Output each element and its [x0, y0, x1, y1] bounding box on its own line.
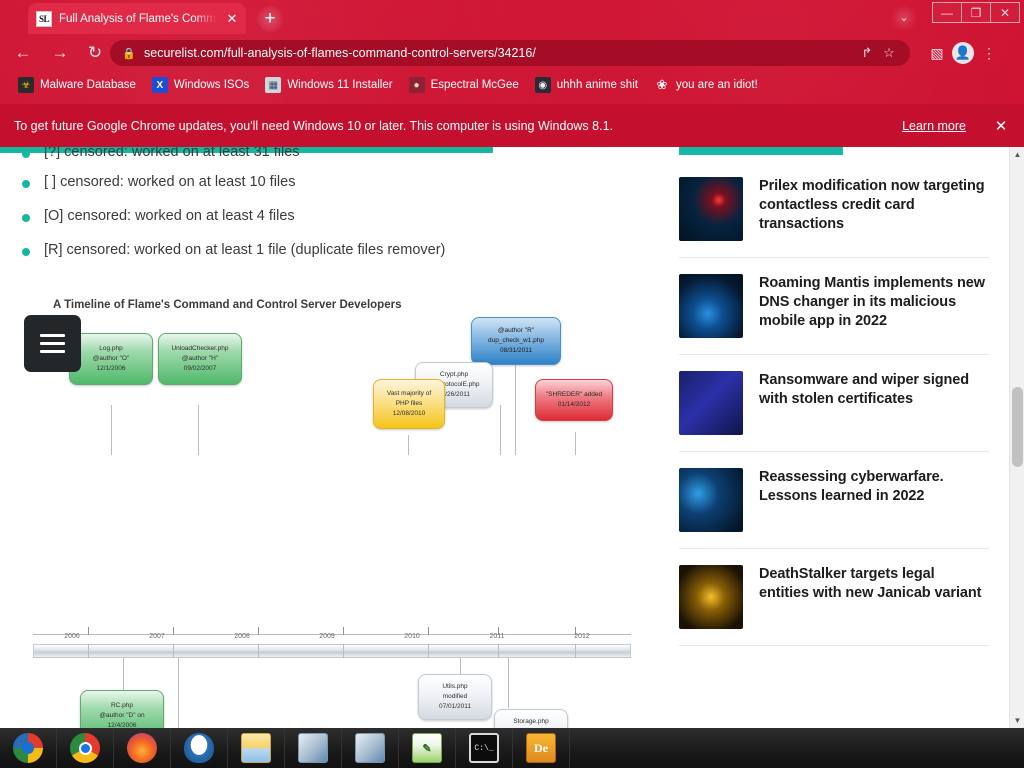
bookmark-label: you are an idiot! [676, 79, 758, 91]
node-line: modified [443, 692, 468, 702]
node-line: @author "R" [498, 326, 534, 336]
list-item: [O] censored: worked on at least 4 files [22, 207, 295, 226]
delphi-icon: De [526, 733, 556, 763]
article-title: Roaming Mantis implements new DNS change… [759, 274, 985, 331]
node-line: 07/01/2011 [439, 702, 471, 712]
bookmark-windows-isos[interactable]: X Windows ISOs [152, 77, 249, 93]
node-line: PHP files [396, 399, 423, 409]
scroll-up-arrow-icon[interactable]: ▲ [1010, 147, 1024, 162]
node-line: @author "D" on [99, 711, 144, 721]
bullet-text: [R] censored: worked on at least 1 file … [44, 241, 445, 260]
menu-hamburger-button[interactable] [24, 315, 81, 372]
axis-year-label: 2012 [574, 633, 590, 640]
bookmark-windows-11-installer[interactable]: ▦ Windows 11 Installer [265, 77, 392, 93]
node-line: 08/31/2011 [500, 346, 532, 356]
minimize-button[interactable]: — [932, 2, 962, 23]
timeline-figure: @author "R" dup_check_w1.php 08/31/2011 … [30, 297, 650, 728]
axis-segment [258, 644, 259, 658]
bullet-dot [22, 214, 30, 222]
node-line: @author "H" [182, 354, 218, 364]
window-icon: ▦ [265, 77, 281, 93]
connector-line [198, 405, 199, 455]
tab-search-chevron-down-icon[interactable]: ⌄ [890, 5, 918, 31]
article-thumbnail [679, 274, 743, 338]
toolbar-right-actions: ▧ 👤 ⋮ [924, 40, 1002, 66]
list-item: [R] censored: worked on at least 1 file … [22, 241, 445, 260]
forward-button[interactable]: → [47, 40, 73, 66]
node-dupcheck: @author "R" dup_check_w1.php 08/31/2011 [471, 317, 561, 365]
axis-tick [173, 627, 174, 635]
securelist-favicon-icon: SL [36, 11, 52, 27]
hamburger-bar-icon [40, 342, 65, 345]
axis-year-label: 2006 [64, 633, 80, 640]
article-title: Reassessing cyberwarfare. Lessons learne… [759, 468, 985, 506]
butterfly-icon: ❀ [654, 77, 670, 93]
connector-line [123, 658, 124, 690]
node-line: @author "O" [93, 354, 130, 364]
node-line: Log.php [99, 344, 123, 354]
bookmarks-bar: ☣ Malware Database X Windows ISOs ▦ Wind… [0, 72, 1024, 98]
window-controls: — ❐ ✕ [933, 2, 1020, 24]
learn-more-link[interactable]: Learn more [902, 119, 966, 133]
firefox-icon [127, 733, 157, 763]
opera-icon [184, 733, 214, 763]
axis-tick [343, 627, 344, 635]
article-title: Ransomware and wiper signed with stolen … [759, 371, 985, 409]
taskbar-command-prompt[interactable]: C:\_ [456, 728, 513, 768]
taskbar-opera[interactable] [171, 728, 228, 768]
list-item: [ ] censored: worked on at least 10 file… [22, 173, 295, 192]
page-viewport: [?] censored: worked on at least 31 file… [0, 147, 1024, 728]
axis-segment [343, 644, 344, 658]
node-line: 12/08/2010 [393, 409, 426, 419]
node-line: Crypt.php [440, 370, 468, 380]
bullet-text: [ ] censored: worked on at least 10 file… [44, 173, 295, 192]
bookmark-label: Windows 11 Installer [287, 79, 392, 91]
hamburger-bar-icon [40, 334, 65, 337]
node-line: "SHREDER" added [546, 390, 602, 400]
notepad-plus-plus-icon: ✎ [412, 733, 442, 763]
tab-close-icon[interactable]: ✕ [224, 11, 240, 27]
page-scrollbar[interactable]: ▲ ▼ [1009, 147, 1024, 728]
command-prompt-icon: C:\_ [469, 733, 499, 763]
axis-tick [88, 627, 89, 635]
node-utils-modified: Utils.php modified 07/01/2011 [418, 674, 492, 720]
bookmark-label: Windows ISOs [174, 79, 249, 91]
new-tab-button[interactable]: + [257, 6, 283, 32]
list-item[interactable]: DeathStalker targets legal entities with… [679, 549, 989, 646]
tab-title: Full Analysis of Flame's Command [59, 13, 217, 25]
node-line: dup_check_w1.php [488, 336, 544, 346]
list-item[interactable]: Ransomware and wiper signed with stolen … [679, 355, 989, 452]
bookmark-star-icon[interactable]: ☆ [878, 45, 900, 61]
scroll-down-arrow-icon[interactable]: ▼ [1010, 713, 1024, 728]
taskbar-file-explorer[interactable] [228, 728, 285, 768]
connector-line [515, 355, 516, 455]
remote-desktop-icon [298, 733, 328, 763]
list-item[interactable]: Reassessing cyberwarfare. Lessons learne… [679, 452, 989, 549]
axis-segment [498, 644, 499, 658]
connector-line [111, 405, 112, 455]
axis-year-label: 2011 [489, 633, 504, 640]
chrome-icon [70, 733, 100, 763]
infobar-close-icon[interactable]: ✕ [992, 117, 1010, 135]
folder-icon [241, 733, 271, 763]
connector-line [575, 432, 576, 455]
axis-year-label: 2009 [319, 633, 335, 640]
profile-avatar-icon[interactable]: 👤 [952, 42, 974, 64]
anime-icon: ◉ [535, 77, 551, 93]
axis-segment [428, 644, 429, 658]
back-button[interactable]: ← [10, 40, 36, 66]
article-content: [?] censored: worked on at least 31 file… [0, 147, 679, 728]
hamburger-bar-icon [40, 350, 65, 353]
connector-line [408, 435, 409, 455]
axis-year-label: 2007 [149, 633, 165, 640]
bullet-dot [22, 180, 30, 188]
connector-line [460, 658, 461, 675]
node-line: Vast majority of [387, 389, 431, 399]
reload-button[interactable]: ↻ [82, 40, 108, 66]
node-line: 12/1/2006 [97, 364, 126, 374]
node-line: Storage.php [513, 717, 548, 727]
close-window-button[interactable]: ✕ [990, 2, 1020, 23]
taskbar-delphi[interactable]: De [513, 728, 570, 768]
article-title: Prilex modification now targeting contac… [759, 177, 985, 234]
start-orb-icon [13, 733, 43, 763]
connector-line [500, 405, 501, 455]
side-panel-icon[interactable]: ▧ [924, 40, 950, 66]
chrome-browser-window: SL Full Analysis of Flame's Command ✕ + … [0, 0, 1024, 728]
node-shreder: "SHREDER" added 01/14/2012 [535, 379, 613, 421]
address-bar-url: securelist.com/full-analysis-of-flames-c… [134, 46, 856, 60]
bookmark-uhhh-anime-shit[interactable]: ◉ uhhh anime shit [535, 77, 638, 93]
article-thumbnail [679, 177, 743, 241]
tab-strip: SL Full Analysis of Flame's Command ✕ + … [0, 0, 1024, 34]
connector-line [508, 658, 509, 708]
list-item[interactable]: Roaming Mantis implements new DNS change… [679, 258, 989, 355]
scrollbar-thumb[interactable] [1012, 387, 1023, 467]
x-logo-icon: X [152, 77, 168, 93]
bullet-dot [22, 150, 30, 158]
address-bar[interactable]: 🔒 securelist.com/full-analysis-of-flames… [110, 40, 910, 66]
windows-taskbar: ✎ C:\_ De ▲ ⚑ ⚲ 🔈 4:03 AM 2/5/2023 [0, 728, 1024, 768]
infobar-message: To get future Google Chrome updates, you… [14, 119, 902, 133]
node-line: 01/14/2012 [558, 400, 591, 410]
taskbar-firefox[interactable] [114, 728, 171, 768]
article-title: DeathStalker targets legal entities with… [759, 565, 985, 603]
biohazard-icon: ☣ [18, 77, 34, 93]
axis-tick [428, 627, 429, 635]
avatar-icon: ● [409, 77, 425, 93]
article-thumbnail [679, 565, 743, 629]
node-log-php: Log.php @author "O" 12/1/2006 [69, 333, 153, 385]
node-unloadchecker-php: UnloadChecker.php @author "H" 09/02/2007 [158, 333, 242, 385]
axis-segment [575, 644, 576, 658]
axis-segment [173, 644, 174, 658]
taskbar-remote-desktop-1[interactable] [285, 728, 342, 768]
bullet-text-clipped: [?] censored: worked on at least 31 file… [44, 147, 300, 162]
share-icon[interactable]: ↱ [856, 45, 878, 61]
article-thumbnail [679, 371, 743, 435]
browser-tab[interactable]: SL Full Analysis of Flame's Command ✕ [28, 3, 246, 34]
remote-desktop-icon [355, 733, 385, 763]
timeline-bar [33, 644, 631, 658]
bookmark-espectral-mcgee[interactable]: ● Espectral McGee [409, 77, 519, 93]
lock-icon: 🔒 [122, 47, 134, 60]
taskbar-chrome[interactable] [57, 728, 114, 768]
related-articles-sidebar: Prilex modification now targeting contac… [679, 161, 989, 646]
bookmark-label: Malware Database [40, 79, 136, 91]
bullet-text: [O] censored: worked on at least 4 files [44, 207, 295, 226]
sidebar-teal-header [679, 147, 843, 155]
node-rc-php: RC.php @author "D" on 12/4/2006 [80, 690, 164, 728]
node-line: RC.php [111, 701, 133, 711]
bookmark-you-are-an-idiot[interactable]: ❀ you are an idiot! [654, 77, 758, 93]
bullet-dot [22, 248, 30, 256]
node-line: UnloadChecker.php [171, 344, 228, 354]
taskbar-remote-desktop-2[interactable] [342, 728, 399, 768]
bookmark-malware-database[interactable]: ☣ Malware Database [18, 77, 136, 93]
chrome-menu-icon[interactable]: ⋮ [976, 40, 1002, 66]
axis-segment [88, 644, 89, 658]
bookmark-label: Espectral McGee [431, 79, 519, 91]
taskbar-notepadpp[interactable]: ✎ [399, 728, 456, 768]
node-line: 09/02/2007 [184, 364, 217, 374]
chrome-update-infobar: To get future Google Chrome updates, you… [0, 104, 1024, 147]
maximize-restore-button[interactable]: ❐ [961, 2, 991, 23]
node-vast-php-files: Vast majority of PHP files 12/08/2010 [373, 379, 445, 429]
axis-tick [258, 627, 259, 635]
axis-year-label: 2010 [404, 633, 420, 640]
start-button[interactable] [0, 728, 57, 768]
node-line: Utils.php [442, 682, 467, 692]
connector-line [178, 658, 179, 728]
node-line: 12/4/2006 [108, 721, 137, 728]
article-thumbnail [679, 468, 743, 532]
axis-year-label: 2008 [234, 633, 250, 640]
bookmark-label: uhhh anime shit [557, 79, 638, 91]
node-storage-modified: Storage.php modified 10/27/2011 [494, 709, 568, 728]
list-item[interactable]: Prilex modification now targeting contac… [679, 161, 989, 258]
